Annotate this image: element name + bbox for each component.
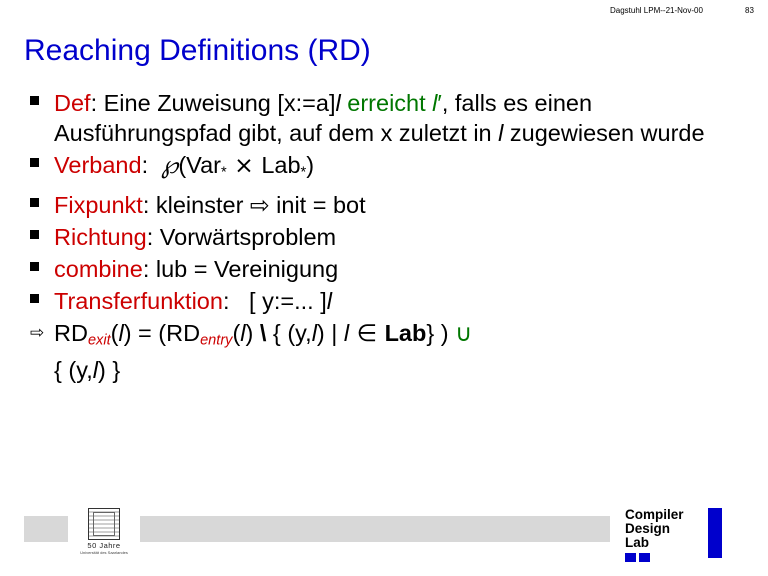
cdl-square-icons — [625, 549, 665, 558]
bullet-text-combine: combine: lub = Vereinigung — [54, 254, 754, 284]
keyword-combine: combine — [54, 256, 143, 282]
bullet-list: Def: Eine Zuweisung [x:=a]l erreicht l′,… — [24, 88, 754, 387]
logo-jahre-label: 50 Jahre — [72, 541, 136, 550]
eq-entry: entry — [200, 332, 232, 348]
list-item: Verband: ℘(Var* × Lab*) — [24, 150, 754, 188]
bullet-text-rd-equation: RDexit(l) = (RDentry(l) \ { (y,l) | l ∈ … — [54, 318, 754, 386]
logo-jahre-sublabel: Universität des Saarlandes — [72, 550, 136, 555]
list-item: combine: lub = Vereinigung — [24, 254, 754, 284]
footer-band-middle — [140, 516, 610, 542]
eq-rd: RD — [54, 320, 88, 346]
bullet-square-icon — [24, 222, 54, 252]
bullet-square-icon — [24, 254, 54, 284]
university-logo: 50 Jahre Universität des Saarlandes — [72, 508, 136, 552]
cdl-vertical-bar — [708, 508, 722, 558]
eq-rd2: RD — [166, 320, 200, 346]
footer-band-left — [24, 516, 68, 542]
keyword-transferfunktion: Transferfunktion — [54, 288, 223, 314]
bullet-text-transferfunktion: Transferfunktion: [ y:=... ]l — [54, 286, 754, 316]
keyword-richtung: Richtung — [54, 224, 147, 250]
bullet-text-richtung: Richtung: Vorwärtsproblem — [54, 222, 754, 252]
list-item: Def: Eine Zuweisung [x:=a]l erreicht l′,… — [24, 88, 754, 148]
bullet-text-verband: Verband: ℘(Var* × Lab*) — [54, 150, 754, 188]
arrow-right-icon: ⇨ — [250, 191, 270, 219]
list-item: ⇨ RDexit(l) = (RDentry(l) \ { (y,l) | l … — [24, 318, 754, 386]
slide: Dagstuhl LPM--21-Nov-00 83 Reaching Defi… — [0, 0, 768, 576]
eq-cup-icon: ∪ — [455, 319, 472, 347]
bullet-square-icon — [24, 190, 54, 220]
list-item: Transferfunktion: [ y:=... ]l — [24, 286, 754, 316]
cdl-line-design: Design — [625, 522, 705, 536]
cdl-line-compiler: Compiler — [625, 508, 705, 522]
list-item: Richtung: Vorwärtsproblem — [24, 222, 754, 252]
bullet-square-icon — [24, 286, 54, 316]
bullet-arrow-icon: ⇨ — [24, 318, 54, 348]
cdl-line-lab: Lab — [625, 536, 705, 550]
keyword-def: Def — [54, 90, 91, 116]
list-item: Fixpunkt: kleinster ⇨ init = bot — [24, 190, 754, 220]
bullet-text-fixpunkt: Fixpunkt: kleinster ⇨ init = bot — [54, 190, 754, 220]
eq-exit: exit — [88, 332, 111, 348]
bullet-square-icon — [24, 150, 54, 180]
slide-header: Dagstuhl LPM--21-Nov-00 83 — [0, 6, 768, 20]
compiler-design-lab-logo: Compiler Design Lab — [625, 508, 705, 550]
keyword-verband: Verband — [54, 152, 142, 178]
header-page-number: 83 — [745, 6, 754, 15]
bullet-square-icon — [24, 88, 54, 118]
header-conference-label: Dagstuhl LPM--21-Nov-00 — [610, 6, 703, 15]
bullet-text-def: Def: Eine Zuweisung [x:=a]l erreicht l′,… — [54, 88, 754, 148]
crest-icon — [88, 508, 120, 540]
page-title: Reaching Definitions (RD) — [24, 34, 371, 68]
keyword-fixpunkt: Fixpunkt — [54, 192, 143, 218]
powerset-icon: ℘ — [161, 150, 178, 179]
